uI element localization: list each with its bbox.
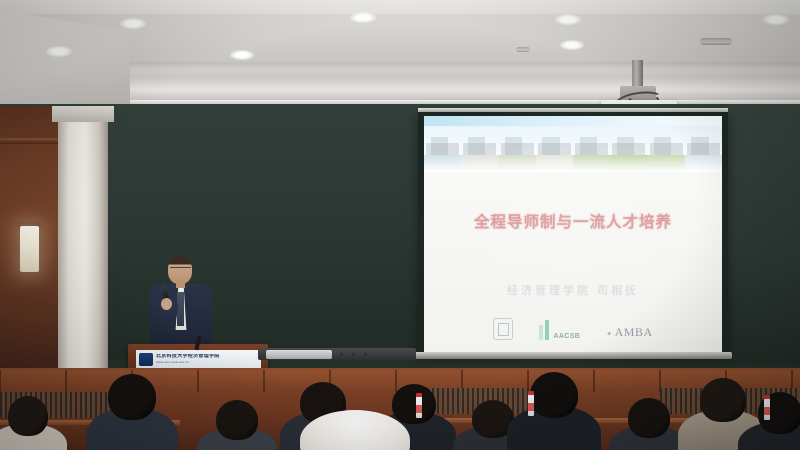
ceiling-downlight-7	[763, 14, 789, 25]
bottle-label-1	[416, 405, 422, 413]
audience-head	[8, 396, 48, 436]
wood-wall-panel	[0, 370, 66, 392]
amba-mark-icon: ✦	[606, 330, 612, 338]
audience-head	[108, 374, 156, 420]
audience-head	[700, 378, 746, 422]
av-indicator-1	[340, 353, 343, 356]
glasses-icon	[170, 267, 191, 272]
bottle-label-2	[528, 403, 534, 411]
campus-photo-1	[424, 126, 461, 172]
campus-photo-3	[499, 126, 536, 172]
podium-banner: 北京科技大学经济管理学院 www.sem.ustb.edu.cn	[136, 350, 261, 368]
photo-foreground	[536, 155, 573, 172]
ceiling-light-slot-2	[516, 47, 530, 52]
amba-logo: ✦AMBA	[606, 325, 652, 340]
photo-foreground	[685, 155, 722, 172]
ceiling-light-slot-1	[700, 38, 732, 45]
campus-photo-2	[461, 126, 498, 172]
photo-building	[538, 143, 571, 155]
ceiling-downlight-5	[555, 14, 581, 25]
photo-building	[501, 143, 534, 155]
amba-label: AMBA	[615, 325, 653, 339]
campus-photo-4	[536, 126, 573, 172]
photo-building	[463, 143, 496, 155]
photo-foreground	[648, 155, 685, 172]
campus-photo-6	[610, 126, 647, 172]
ceiling-downlight-2	[46, 46, 72, 57]
bottle-cap-2	[528, 391, 534, 395]
aacsb-bar-2	[545, 320, 549, 340]
aacsb-logo: AACSB	[539, 320, 580, 340]
lecture-hall-photo: 全程导师制与一流人才培养 经济管理学院 司相抚 AACSB ✦AMBA 北京科技…	[0, 0, 800, 450]
campus-photo-7	[648, 126, 685, 172]
podium-banner-textblock: 北京科技大学经济管理学院 www.sem.ustb.edu.cn	[156, 354, 220, 363]
speaker-hand	[161, 298, 172, 310]
slide-logo-row: AACSB ✦AMBA	[424, 318, 722, 340]
photo-building	[575, 143, 608, 155]
photo-building	[612, 143, 645, 155]
audience-head	[392, 384, 436, 424]
podium-banner-url: www.sem.ustb.edu.cn	[156, 360, 220, 364]
aacsb-bar-1	[539, 325, 543, 340]
audience-head	[628, 398, 670, 438]
white-pillar	[58, 106, 108, 378]
wood-wall-panel	[198, 370, 264, 392]
photo-foreground	[424, 155, 461, 172]
photo-foreground	[499, 155, 536, 172]
podium-banner-title: 北京科技大学经济管理学院	[156, 354, 220, 359]
slide-title: 全程导师制与一流人才培养	[424, 210, 722, 232]
bottle-cap-3	[764, 395, 770, 399]
photo-foreground	[461, 155, 498, 172]
left-wood-trim	[0, 138, 62, 144]
aacsb-label: AACSB	[553, 333, 580, 340]
podium-institution-logo	[139, 353, 153, 366]
wood-wall-panel	[594, 370, 660, 392]
photo-building	[426, 143, 459, 155]
ceiling-downlight-6	[560, 40, 584, 50]
slide-top-band	[424, 116, 722, 126]
bottle-label-3	[764, 407, 770, 415]
pillar-capital	[52, 106, 114, 122]
university-seal-logo	[493, 318, 513, 340]
photo-building	[687, 143, 720, 155]
campus-photo-5	[573, 126, 610, 172]
slide-photo-strip	[424, 126, 722, 172]
back-wall-right-panel	[725, 104, 800, 364]
ceiling-downlight-4	[350, 12, 376, 23]
ceiling-downlight-1	[120, 18, 146, 29]
av-control-unit	[266, 350, 332, 359]
screen-bottom-bar	[414, 352, 732, 359]
photo-foreground	[610, 155, 647, 172]
campus-photo-8	[685, 126, 722, 172]
projection-screen: 全程导师制与一流人才培养 经济管理学院 司相抚 AACSB ✦AMBA	[424, 116, 722, 352]
ceiling-downlight-3	[230, 50, 254, 60]
photo-foreground	[573, 155, 610, 172]
audience-head	[216, 400, 258, 440]
wall-sconce-light	[20, 226, 39, 272]
audience-head	[530, 372, 578, 418]
bottle-cap-1	[416, 393, 422, 397]
photo-building	[650, 143, 683, 155]
slide-subtitle: 经济管理学院 司相抚	[424, 282, 722, 298]
av-indicator-2	[352, 353, 355, 356]
av-indicator-3	[364, 353, 367, 356]
